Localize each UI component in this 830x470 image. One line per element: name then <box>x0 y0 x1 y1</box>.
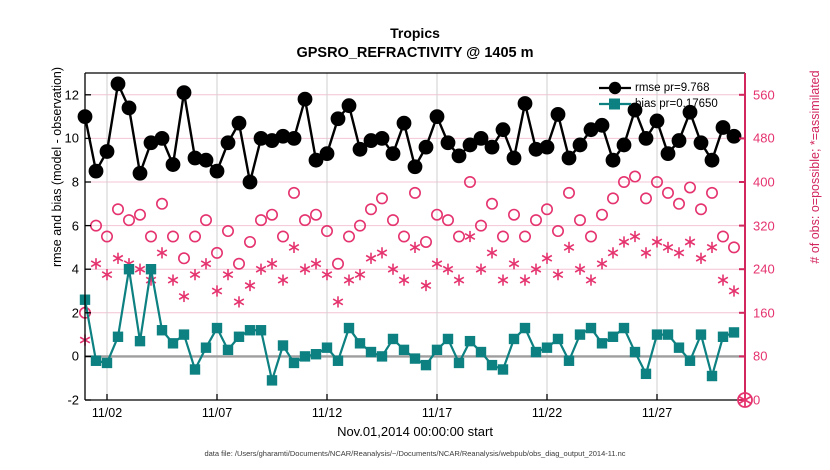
y-tick-label-right: 480 <box>753 131 799 146</box>
y-tick-label-right: 160 <box>753 305 799 320</box>
chart-legend: rmse pr=9.768 bias pr=0.17650 <box>598 80 718 112</box>
y-tick-label-left: 2 <box>39 305 79 320</box>
y-tick-label-right: 400 <box>753 175 799 190</box>
y-tick-label-left: 0 <box>39 349 79 364</box>
legend-item-rmse: rmse pr=9.768 <box>598 80 718 96</box>
y-tick-label-left: 4 <box>39 262 79 277</box>
y-tick-label-right: 80 <box>753 349 799 364</box>
x-tick-label: 11/12 <box>297 406 357 420</box>
legend-marker-bias <box>598 97 632 111</box>
y-tick-label-right: 0 <box>753 393 799 408</box>
y-tick-label-right: 320 <box>753 218 799 233</box>
x-tick-label: 11/07 <box>187 406 247 420</box>
y-tick-label-right: 560 <box>753 87 799 102</box>
y-tick-label-left: 10 <box>39 131 79 146</box>
y-tick-label-left: 12 <box>39 87 79 102</box>
x-tick-label: 11/17 <box>407 406 467 420</box>
legend-marker-rmse <box>598 81 632 95</box>
y-tick-label-left: -2 <box>39 393 79 408</box>
y-tick-label-right: 240 <box>753 262 799 277</box>
legend-label-bias: bias pr=0.17650 <box>635 98 718 110</box>
plot-area <box>0 0 830 470</box>
x-tick-label: 11/02 <box>77 406 137 420</box>
y-tick-label-left: 6 <box>39 218 79 233</box>
chart-figure: Tropics GPSRO_REFRACTIVITY @ 1405 m rmse… <box>0 0 830 470</box>
legend-label-rmse: rmse pr=9.768 <box>635 82 709 94</box>
legend-item-bias: bias pr=0.17650 <box>598 96 718 112</box>
x-tick-label: 11/27 <box>627 406 687 420</box>
x-tick-label: 11/22 <box>517 406 577 420</box>
y-tick-label-left: 8 <box>39 175 79 190</box>
